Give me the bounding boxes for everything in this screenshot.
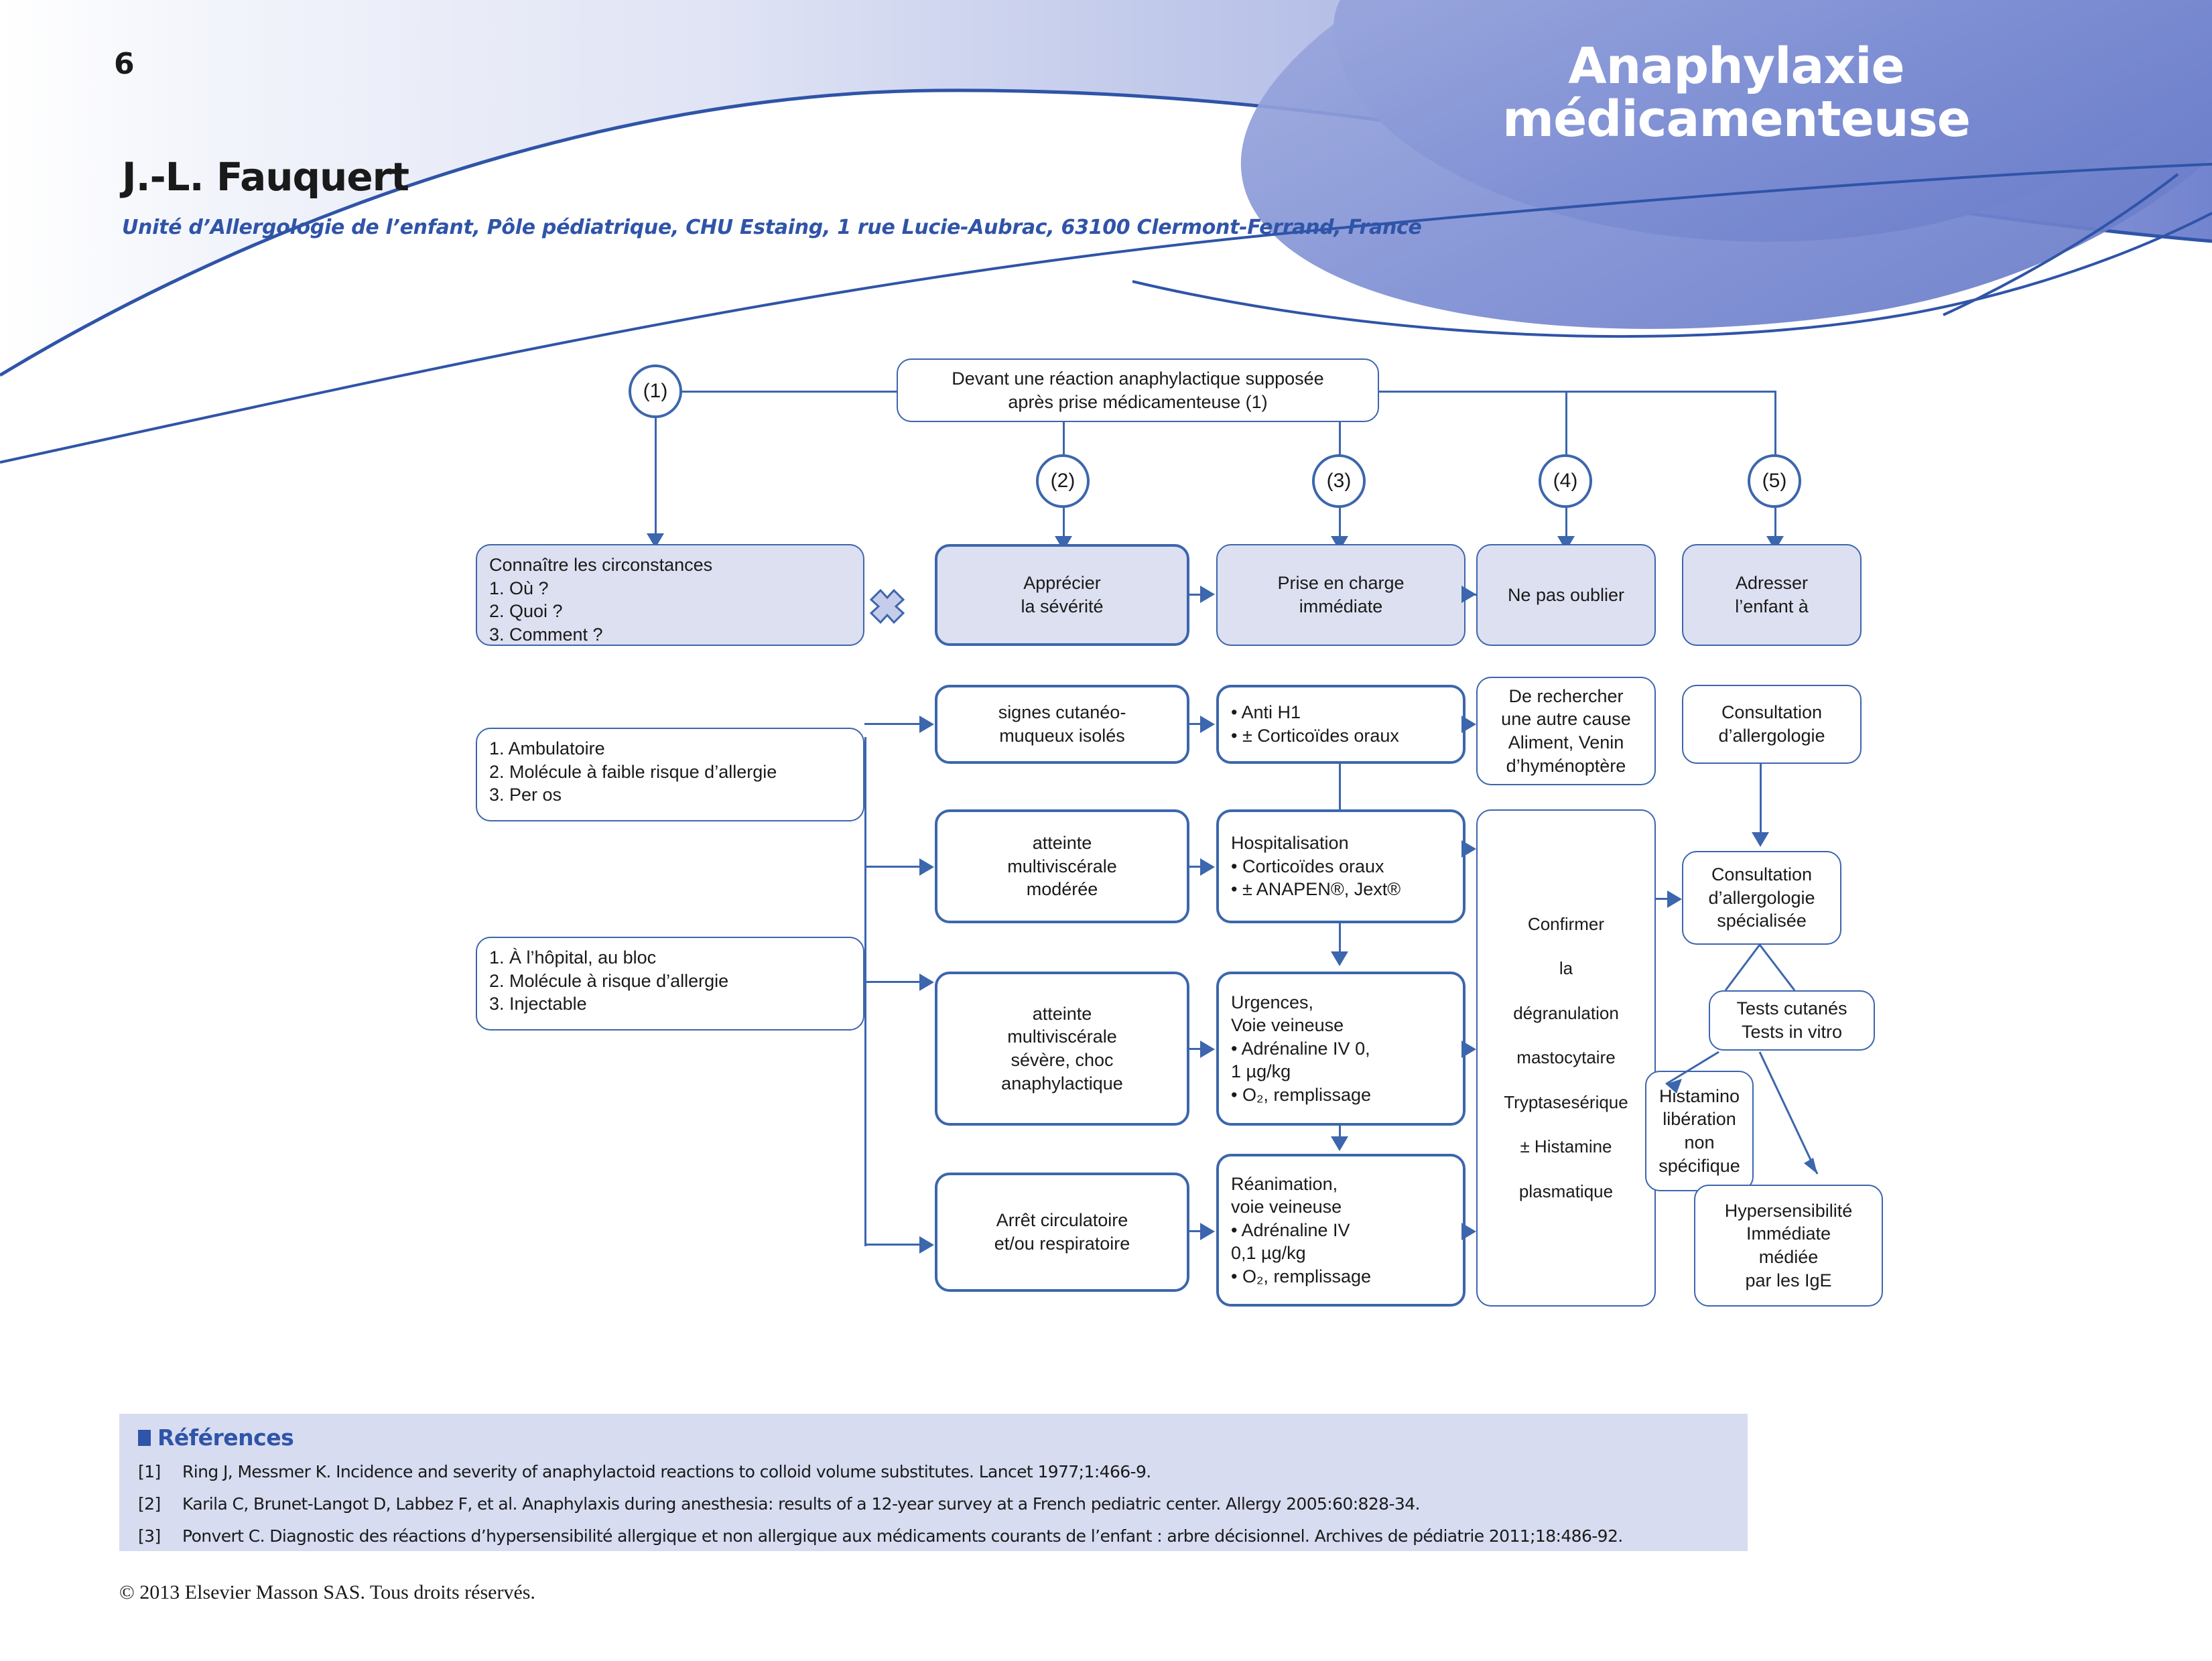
box-consultation-specialized: Consultation d’allergologie spécialisée: [1682, 851, 1841, 945]
box-severity-4: Arrêt circulatoire et/ou respiratoire: [935, 1173, 1189, 1292]
arrow-care3-care4: [1331, 1136, 1348, 1151]
box-histamino: Histamino libération non spécifique: [1645, 1071, 1754, 1191]
connector-cons-consspec: [1760, 764, 1762, 836]
box-remember-header: Ne pas oublier: [1476, 544, 1656, 646]
arrow-bus-sev4: [919, 1236, 934, 1254]
box-other-cause: De rechercher une autre cause Aliment, V…: [1476, 677, 1656, 785]
arrow-sev1-care1: [1200, 716, 1215, 733]
reference-text: Ponvert C. Diagnostic des réactions d’hy…: [182, 1526, 1623, 1546]
box-tests: Tests cutanés Tests in vitro: [1709, 990, 1875, 1051]
box-severity-header: Apprécier la sévérité: [935, 544, 1189, 646]
bullet-square-icon: [138, 1430, 151, 1446]
arrow-care1-other: [1461, 716, 1476, 733]
references-heading-label: Références: [157, 1424, 294, 1451]
connector-root-bus: [1379, 391, 1776, 393]
marker-3: (3): [1312, 454, 1366, 508]
arrow-care-remember: [1461, 586, 1476, 603]
reference-item: [3] Ponvert C. Diagnostic des réactions …: [138, 1526, 1623, 1546]
page-number: 6: [114, 47, 134, 81]
box-refer-header: Adresser l’enfant à: [1682, 544, 1862, 646]
arrow-care3-confirm: [1461, 1041, 1476, 1058]
connector-care2-care3: [1339, 923, 1341, 955]
box-context-high-risk: 1. À l’hôpital, au bloc 2. Molécule à ri…: [476, 937, 864, 1031]
connector-bus-m5: [1774, 391, 1776, 454]
connector-left-bus: [864, 737, 866, 1246]
marker-1: (1): [629, 364, 682, 418]
connector-m1-root: [682, 391, 897, 393]
arrow-bus-sev3: [919, 974, 934, 991]
reference-text: Ring J, Messmer K. Incidence and severit…: [182, 1462, 1151, 1481]
box-severity-2: atteinte multiviscérale modérée: [935, 809, 1189, 923]
connector-bus-sev2: [864, 866, 921, 868]
page-title: Anaphylaxie médicamenteuse: [1368, 40, 2105, 146]
connector-bus-sev1: [864, 723, 921, 725]
copyright-notice: © 2013 Elsevier Masson SAS. Tous droits …: [119, 1581, 535, 1604]
connector-root-m3: [1339, 422, 1341, 454]
box-context-low-risk: 1. Ambulatoire 2. Molécule à faible risq…: [476, 728, 864, 821]
connector-bus-sev4: [864, 1244, 921, 1246]
box-care-1: • Anti H1 • ± Corticoïdes oraux: [1216, 685, 1466, 764]
arrow-sev4-care4: [1200, 1223, 1215, 1240]
arrow-sev3-care3: [1200, 1041, 1215, 1058]
box-severity-3: atteinte multiviscérale sévère, choc ana…: [935, 972, 1189, 1126]
arrow-care4-confirm: [1461, 1223, 1476, 1240]
connector-care1-care2: [1339, 764, 1341, 809]
reference-number: [1]: [138, 1462, 168, 1481]
arrow-sev2-care2: [1200, 858, 1215, 876]
flow-root-box: Devant une réaction anaphylactique suppo…: [897, 358, 1379, 422]
reference-text: Karila C, Brunet-Langot D, Labbez F, et …: [182, 1494, 1420, 1514]
references-panel: Références [1] Ring J, Messmer K. Incide…: [119, 1414, 1748, 1551]
author-name: J.-L. Fauquert: [122, 154, 409, 200]
reference-item: [1] Ring J, Messmer K. Incidence and sev…: [138, 1462, 1151, 1481]
arrow-bus-sev2: [919, 858, 934, 876]
box-care-3: Urgences, Voie veineuse • Adrénaline IV …: [1216, 972, 1466, 1126]
arrow-confirm-consspec: [1667, 890, 1682, 908]
marker-5: (5): [1748, 454, 1801, 508]
arrow-cons-consspec: [1752, 832, 1769, 847]
arrow-care2-confirm: [1461, 840, 1476, 858]
references-heading: Références: [138, 1424, 294, 1451]
arrow-bus-sev1: [919, 716, 934, 733]
marker-2: (2): [1036, 454, 1090, 508]
reference-item: [2] Karila C, Brunet-Langot D, Labbez F,…: [138, 1494, 1420, 1514]
arrow-care2-care3: [1331, 951, 1348, 966]
reference-number: [3]: [138, 1526, 168, 1546]
connector-m1-down: [655, 418, 657, 539]
connector-bus-sev3: [864, 981, 921, 983]
reference-number: [2]: [138, 1494, 168, 1514]
box-care-header: Prise en charge immédiate: [1216, 544, 1466, 646]
connector-bus-m4: [1565, 391, 1567, 454]
box-severity-1: signes cutanéo- muqueux isolés: [935, 685, 1189, 764]
marker-4: (4): [1539, 454, 1592, 508]
box-care-2: Hospitalisation • Corticoïdes oraux • ± …: [1216, 809, 1466, 923]
arrow-sev-care: [1200, 586, 1215, 603]
box-confirm-degranulation: Confirmer la dégranulation mastocytaire …: [1476, 809, 1656, 1307]
box-care-4: Réanimation, voie veineuse • Adrénaline …: [1216, 1154, 1466, 1307]
author-affiliation: Unité d’Allergologie de l’enfant, Pôle p…: [122, 216, 1422, 239]
x-cross-icon: [869, 588, 905, 624]
box-hypersensitivity: Hypersensibilité Immédiate médiée par le…: [1694, 1185, 1883, 1307]
box-circumstances: Connaître les circonstances 1. Où ? 2. Q…: [476, 544, 864, 646]
connector-root-m2: [1063, 422, 1065, 454]
box-consultation: Consultation d’allergologie: [1682, 685, 1862, 764]
